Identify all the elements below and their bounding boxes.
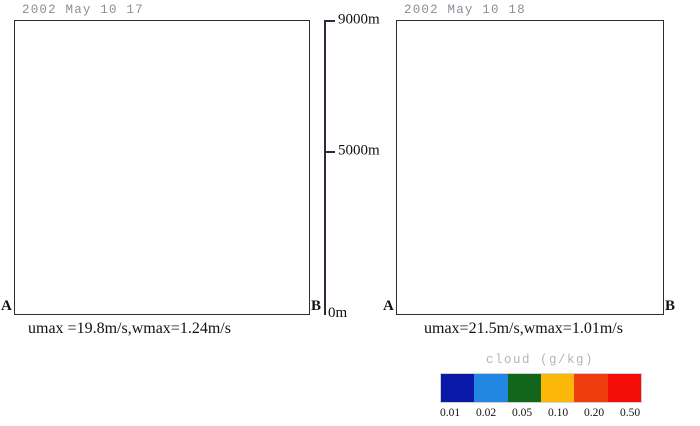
- colorbar-legend: cloud (g/kg) 0.010.020.050.100.200.50: [440, 353, 640, 426]
- axis-endpoint-label-a-left: A: [1, 298, 12, 315]
- colorbar-swatches: [440, 373, 642, 403]
- colorbar-swatch-0.02: [474, 374, 507, 402]
- colorbar-tick-0.05: 0.05: [504, 407, 540, 419]
- height-tick-label-9000: 9000m: [338, 12, 380, 29]
- panel-caption-right: umax=21.5m/s,wmax=1.01m/s: [424, 320, 623, 338]
- colorbar-swatch-0.05: [508, 374, 541, 402]
- colorbar-tick-labels: 0.010.020.050.100.200.50: [432, 407, 648, 419]
- height-tick-5000: [324, 151, 335, 153]
- colorbar-tick-0.02: 0.02: [468, 407, 504, 419]
- height-tick-9000: [324, 20, 335, 22]
- colorbar-tick-0.01: 0.01: [432, 407, 468, 419]
- axis-endpoint-label-b-right: B: [665, 298, 675, 315]
- colorbar-tick-0.10: 0.10: [540, 407, 576, 419]
- colorbar-title: cloud (g/kg): [440, 353, 640, 367]
- panel-border-right: [396, 20, 664, 315]
- panel-border-left: [14, 20, 310, 315]
- height-axis: 9000m 5000m: [316, 20, 406, 315]
- height-axis-spine: [324, 20, 326, 315]
- cross-section-panel-right: [396, 20, 664, 315]
- figure-root: 2002 May 10 17 A B umax =19.8m/s,wmax=1.…: [0, 0, 700, 422]
- panel-title-left: 2002 May 10 17: [22, 3, 144, 17]
- axis-endpoint-label-a-right: A: [383, 298, 394, 315]
- height-tick-label-0: 0m: [328, 305, 347, 322]
- colorbar-swatch-0.10: [541, 374, 574, 402]
- colorbar-swatch-0.20: [574, 374, 607, 402]
- cross-section-panel-left: [14, 20, 310, 315]
- panel-title-right: 2002 May 10 18: [404, 3, 526, 17]
- panel-caption-left: umax =19.8m/s,wmax=1.24m/s: [28, 320, 231, 338]
- height-tick-label-5000: 5000m: [338, 143, 380, 160]
- colorbar-swatch-0.50: [608, 374, 641, 402]
- colorbar-tick-0.20: 0.20: [576, 407, 612, 419]
- colorbar-tick-0.50: 0.50: [612, 407, 648, 419]
- colorbar-swatch-0.01: [441, 374, 474, 402]
